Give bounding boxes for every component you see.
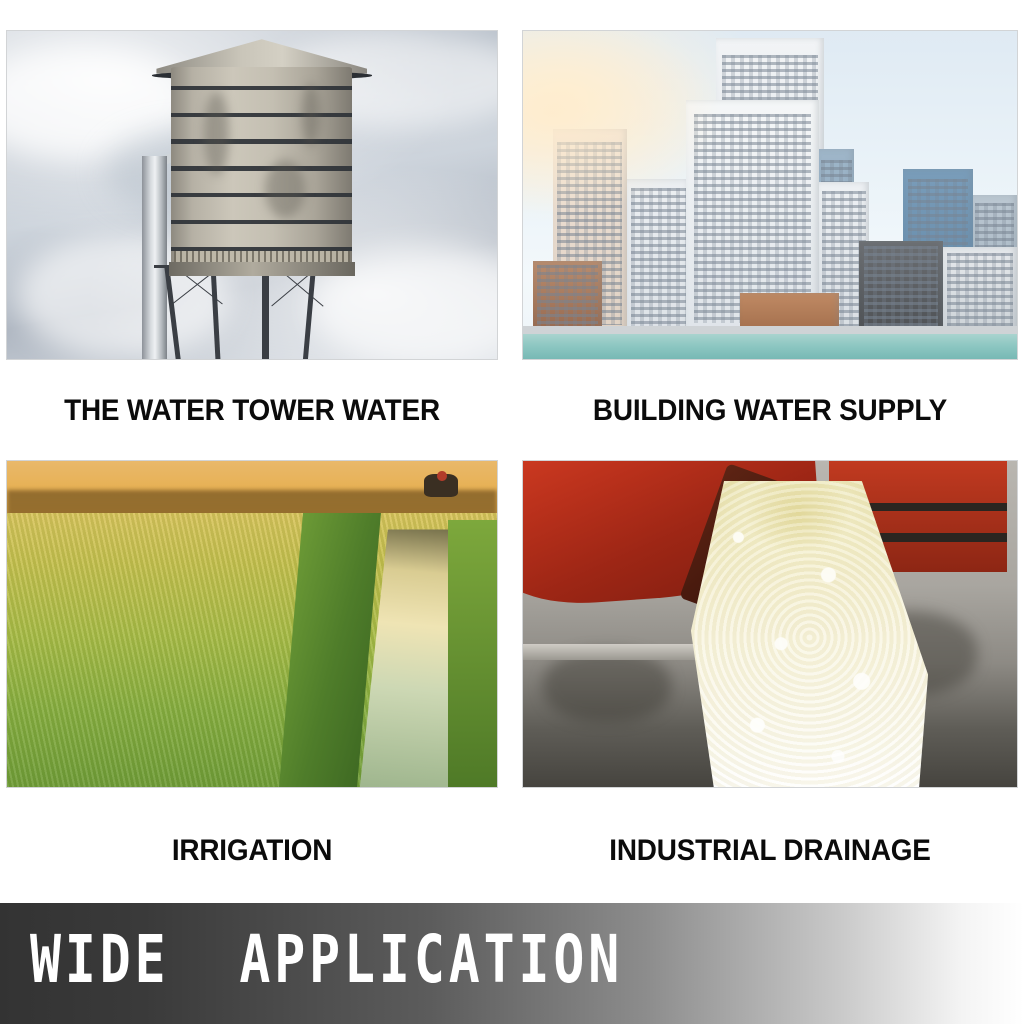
tank-stain: [265, 160, 305, 218]
grid-cell-water-tower: [6, 30, 498, 360]
grid-cell-industrial-drainage: [522, 460, 1018, 788]
caption-industrial-drainage: INDUSTRIAL DRAINAGE: [539, 834, 1000, 868]
tower-support-legs: [154, 267, 350, 359]
tank-hoop: [171, 166, 352, 170]
city-skyline-scene: [523, 31, 1017, 359]
tank-hoop: [171, 139, 352, 143]
sun-haze: [523, 31, 1017, 359]
tower-leg: [164, 267, 180, 359]
rider-highlight: [437, 471, 447, 481]
banner-title: WIDE APPLICATION: [30, 921, 623, 998]
tank-hoop: [171, 220, 352, 224]
industrial-drainage-photo: [522, 460, 1018, 788]
wide-application-banner: WIDE APPLICATION: [0, 903, 1024, 1024]
tank-stain: [302, 84, 320, 146]
tower-leg: [303, 267, 316, 359]
city-skyline-photo: [522, 30, 1018, 360]
rice-field-scene: [7, 461, 497, 787]
tank-base-ring: [169, 262, 355, 276]
grid-cell-building-water-supply: [522, 30, 1018, 360]
tower-leg: [210, 267, 220, 359]
tower-tank: [171, 67, 352, 274]
drainage-scene: [523, 461, 1017, 787]
canal-bank-grass: [448, 520, 497, 787]
tank-stain: [204, 92, 229, 175]
caption-water-tower: THE WATER TOWER WATER: [23, 394, 481, 428]
steel-beam: [859, 503, 1007, 511]
water-tower-photo: [6, 30, 498, 360]
caption-building-water-supply: BUILDING WATER SUPPLY: [539, 394, 1000, 428]
water-tower-scene: [7, 31, 497, 359]
tank-hoop: [171, 113, 352, 117]
tank-hoop: [171, 86, 352, 90]
wide-application-poster: THE WATER TOWER WATER: [0, 0, 1024, 1024]
wall-stain: [543, 650, 671, 722]
tower-leg: [262, 267, 269, 359]
irrigation-photo: [6, 460, 498, 788]
tank-hoop: [171, 193, 352, 197]
caption-irrigation: IRRIGATION: [23, 834, 481, 868]
grid-cell-irrigation: [6, 460, 498, 788]
